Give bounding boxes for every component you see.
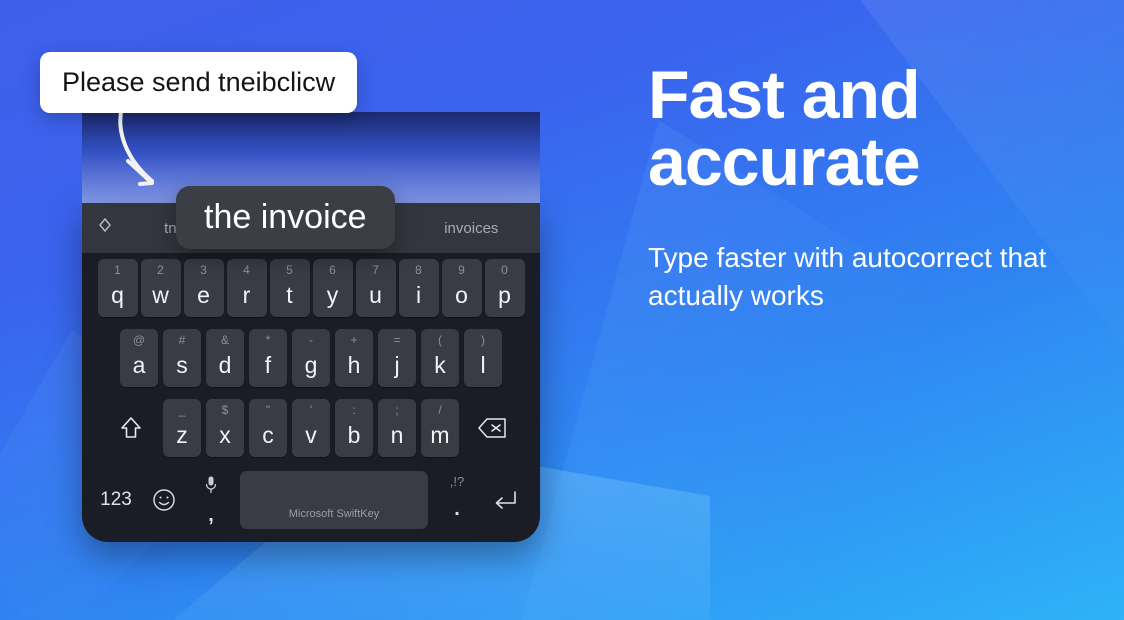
key-label: h — [348, 352, 361, 379]
key-f[interactable]: *f — [249, 329, 287, 387]
key-label: t — [286, 282, 292, 309]
smiley-face-icon[interactable] — [140, 487, 188, 513]
key-a[interactable]: @a — [120, 329, 158, 387]
subtitle-text: Type faster with autocorrect that actual… — [648, 195, 1068, 315]
key-t[interactable]: 5t — [270, 259, 310, 317]
key-alt-label: + — [335, 333, 373, 347]
keyboard-row-top: 1q 2w 3e 4r 5t 6y 7u 8i 9o 0p — [82, 253, 540, 323]
key-k[interactable]: (k — [421, 329, 459, 387]
onscreen-keyboard[interactable]: tneibclicw the invoice invoices 1q 2w 3e… — [82, 203, 540, 542]
key-label: s — [176, 352, 188, 379]
comma-key[interactable]: , — [188, 471, 234, 529]
keyboard-row-bottom: _z $x "c 'v :b ;n /m — [82, 393, 540, 463]
comma-label: , — [188, 504, 234, 527]
key-label: e — [197, 282, 210, 309]
key-g[interactable]: -g — [292, 329, 330, 387]
page-title: Fast and accurate — [648, 62, 1068, 195]
speech-bubble: Please send tneibclicw — [40, 52, 357, 113]
key-s[interactable]: #s — [163, 329, 201, 387]
key-alt-label: $ — [206, 403, 244, 417]
marketing-copy: Fast and accurate Type faster with autoc… — [648, 62, 1068, 315]
key-alt-label: 4 — [227, 263, 267, 277]
key-label: o — [455, 282, 468, 309]
key-j[interactable]: =j — [378, 329, 416, 387]
key-p[interactable]: 0p — [485, 259, 525, 317]
key-alt-label: 8 — [399, 263, 439, 277]
key-alt-label: : — [335, 403, 373, 417]
period-key[interactable]: ,!? . — [434, 471, 480, 529]
key-e[interactable]: 3e — [184, 259, 224, 317]
key-alt-label: 5 — [270, 263, 310, 277]
backspace-icon[interactable] — [468, 399, 516, 457]
key-label: y — [327, 282, 339, 309]
spacebar[interactable]: Microsoft SwiftKey — [240, 471, 428, 529]
key-v[interactable]: 'v — [292, 399, 330, 457]
key-alt-label: ) — [464, 333, 502, 347]
key-alt-label: " — [249, 403, 287, 417]
suggestion-item-2[interactable]: invoices — [403, 220, 540, 237]
key-l[interactable]: )l — [464, 329, 502, 387]
key-q[interactable]: 1q — [98, 259, 138, 317]
key-alt-label: 6 — [313, 263, 353, 277]
key-alt-label: _ — [163, 403, 201, 417]
period-label: . — [434, 498, 480, 521]
key-m[interactable]: /m — [421, 399, 459, 457]
microphone-icon[interactable] — [188, 475, 234, 500]
shift-arrow-icon[interactable] — [107, 399, 155, 457]
key-label: i — [416, 282, 421, 309]
key-n[interactable]: ;n — [378, 399, 416, 457]
key-alt-label: = — [378, 333, 416, 347]
key-alt-label: ; — [378, 403, 416, 417]
key-c[interactable]: "c — [249, 399, 287, 457]
key-label: a — [133, 352, 146, 379]
key-r[interactable]: 4r — [227, 259, 267, 317]
key-alt-label: 7 — [356, 263, 396, 277]
expand-chevron-icon[interactable] — [82, 217, 128, 239]
key-label: q — [111, 282, 124, 309]
key-alt-label: 2 — [141, 263, 181, 277]
key-alt-label: 0 — [485, 263, 525, 277]
key-label: d — [219, 352, 232, 379]
key-label: m — [430, 422, 449, 449]
enter-return-icon[interactable] — [480, 487, 530, 513]
key-alt-label: - — [292, 333, 330, 347]
autocorrect-tooltip[interactable]: the invoice — [176, 186, 395, 249]
key-label: c — [262, 422, 274, 449]
key-alt-label: 3 — [184, 263, 224, 277]
key-label: p — [498, 282, 511, 309]
key-label: j — [394, 352, 399, 379]
numeric-mode-button[interactable]: 123 — [92, 489, 140, 511]
key-label: b — [348, 422, 361, 449]
key-i[interactable]: 8i — [399, 259, 439, 317]
key-alt-label: ( — [421, 333, 459, 347]
key-label: u — [369, 282, 382, 309]
autocorrect-tooltip-text: the invoice — [204, 198, 367, 236]
punctuation-alt-label: ,!? — [434, 474, 480, 489]
key-alt-label: 9 — [442, 263, 482, 277]
key-h[interactable]: +h — [335, 329, 373, 387]
keyboard-space-row: 123 , Mi — [82, 463, 540, 537]
key-label: k — [434, 352, 446, 379]
key-d[interactable]: &d — [206, 329, 244, 387]
key-label: f — [265, 352, 271, 379]
key-label: n — [391, 422, 404, 449]
key-alt-label: 1 — [98, 263, 138, 277]
key-label: z — [176, 422, 188, 449]
key-u[interactable]: 7u — [356, 259, 396, 317]
key-label: w — [152, 282, 169, 309]
key-w[interactable]: 2w — [141, 259, 181, 317]
key-label: l — [480, 352, 485, 379]
key-x[interactable]: $x — [206, 399, 244, 457]
key-alt-label: * — [249, 333, 287, 347]
key-alt-label: / — [421, 403, 459, 417]
key-b[interactable]: :b — [335, 399, 373, 457]
key-alt-label: @ — [120, 333, 158, 347]
key-y[interactable]: 6y — [313, 259, 353, 317]
key-z[interactable]: _z — [163, 399, 201, 457]
key-label: v — [305, 422, 317, 449]
spacebar-brand-label: Microsoft SwiftKey — [289, 508, 379, 520]
key-label: x — [219, 422, 231, 449]
key-alt-label: # — [163, 333, 201, 347]
promo-banner: tneibclicw the invoice invoices 1q 2w 3e… — [0, 0, 1124, 620]
speech-bubble-text: Please send tneibclicw — [62, 67, 335, 97]
key-alt-label: ' — [292, 403, 330, 417]
key-label: r — [243, 282, 251, 309]
key-alt-label: & — [206, 333, 244, 347]
key-label: g — [305, 352, 318, 379]
keyboard-row-home: @a #s &d *f -g +h =j (k )l — [82, 323, 540, 393]
key-o[interactable]: 9o — [442, 259, 482, 317]
